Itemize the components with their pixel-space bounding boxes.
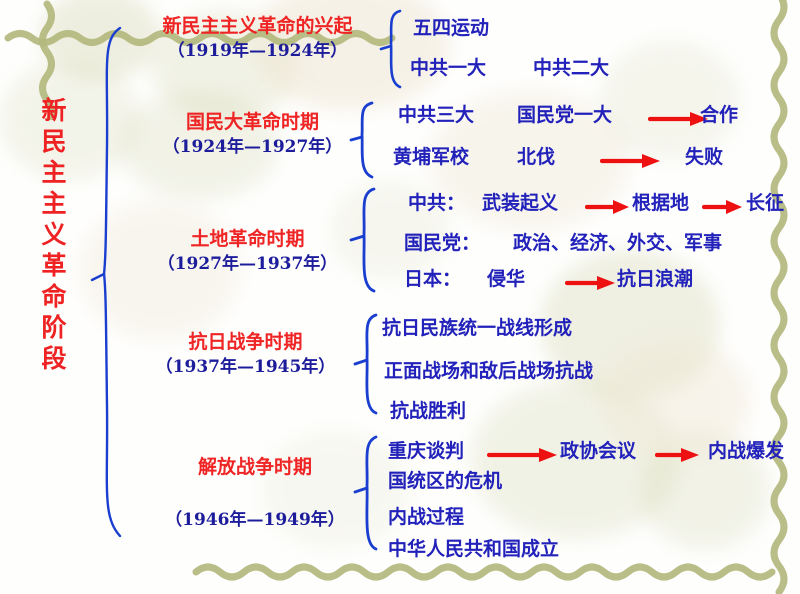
stage-5-name: 解放战争时期 [140, 455, 370, 480]
item-s1r1c1: 五四运动 [413, 17, 489, 39]
right-wavy-border [760, 0, 798, 594]
item-s5r1c3: 内战爆发 [708, 440, 784, 462]
item-s3r3c1: 日本： [404, 268, 461, 290]
item-s3r3c2: 侵华 [487, 268, 525, 290]
item-s2r2c3: 失败 [685, 146, 723, 168]
bottom-wavy-border [190, 558, 790, 588]
stage-2-name: 国民大革命时期 [140, 110, 365, 135]
title-char-7: 命 [30, 281, 78, 312]
main-brace [86, 26, 126, 538]
stage-1-years: （1919年—1924年） [135, 39, 380, 64]
item-s2r1c2: 国民党一大 [517, 104, 612, 126]
title-char-4: 主 [30, 188, 78, 219]
item-s3r3c3: 抗日浪潮 [617, 268, 693, 290]
item-s5r1c1: 重庆谈判 [388, 440, 464, 462]
item-s3r1c3: 根据地 [632, 192, 689, 214]
stage-1-name: 新民主主义革命的兴起 [135, 14, 380, 39]
item-s3r1c4: 长征 [746, 192, 784, 214]
stage-4-name: 抗日战争时期 [133, 330, 358, 355]
item-s3r1c1: 中共： [408, 192, 465, 214]
arrow-s3r1b [702, 198, 744, 216]
item-s1r2c2: 中共二大 [533, 57, 609, 79]
title-char-5: 义 [30, 219, 78, 250]
arrow-s2r2 [600, 152, 662, 170]
item-s4r1c1: 抗日民族统一战线形成 [382, 317, 572, 339]
title-char-8: 阶 [30, 312, 78, 343]
item-s1r2c1: 中共一大 [410, 57, 486, 79]
stage-5-years: （1946年—1949年） [140, 508, 370, 533]
title-char-2: 民 [30, 126, 78, 157]
stage-label-3: 土地革命时期 （1927年—1937年） [130, 227, 365, 277]
slide-canvas: 新 民 主 主 义 革 命 阶 段 新民主主义革命的兴起 （1919年—1924… [0, 0, 800, 594]
stage-2-years: （1924年—1927年） [140, 135, 365, 160]
stage-label-4: 抗日战争时期 （1937年—1945年） [133, 330, 358, 380]
stage-1-brace [378, 8, 404, 90]
stage-label-2: 国民大革命时期 （1924年—1927年） [140, 110, 365, 160]
arrow-s5r1b [655, 446, 701, 464]
stage-3-name: 土地革命时期 [130, 227, 365, 252]
arrow-s3r1a [585, 198, 631, 216]
item-s5r2c1: 国统区的危机 [388, 470, 502, 492]
arrow-s5r1a [487, 446, 559, 464]
item-s3r1c2: 武装起义 [482, 192, 558, 214]
item-s5r3c1: 内战过程 [388, 506, 464, 528]
stage-label-5: 解放战争时期 （1946年—1949年） [140, 455, 370, 533]
title-char-6: 革 [30, 250, 78, 281]
item-s2r2c1: 黄埔军校 [393, 146, 469, 168]
page-title-vertical: 新 民 主 主 义 革 命 阶 段 [30, 95, 78, 374]
item-s4r2c1: 正面战场和敌后战场抗战 [384, 360, 593, 382]
item-s2r2c2: 北伐 [517, 146, 555, 168]
stage-4-years: （1937年—1945年） [133, 355, 358, 380]
item-s4r3c1: 抗战胜利 [390, 400, 466, 422]
stage-label-1: 新民主主义革命的兴起 （1919年—1924年） [135, 14, 380, 64]
title-char-1: 新 [30, 95, 78, 126]
stage-3-years: （1927年—1937年） [130, 252, 365, 277]
item-s5r4c1: 中华人民共和国成立 [388, 538, 559, 560]
item-s3r2c1: 国民党： [404, 232, 480, 254]
arrow-s3r3 [565, 274, 617, 292]
item-s2r1c3: 合作 [700, 104, 738, 126]
title-char-9: 段 [30, 343, 78, 374]
item-s5r1c2: 政协会议 [560, 440, 636, 462]
item-s2r1c1: 中共三大 [398, 104, 474, 126]
title-char-3: 主 [30, 157, 78, 188]
item-s3r2c2: 政治、经济、外交、军事 [513, 232, 722, 254]
